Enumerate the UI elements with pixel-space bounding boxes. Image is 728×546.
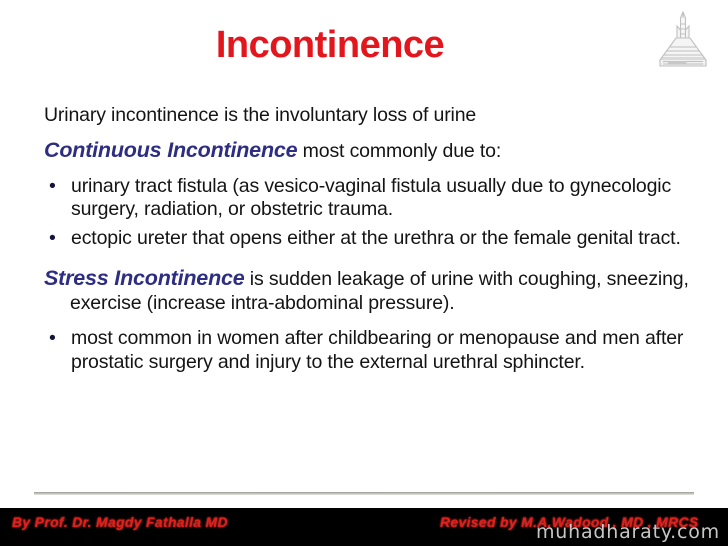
slide-root: ████████ Incontinence Urinary incontinen… bbox=[0, 0, 728, 546]
list-item-label: most common in women after childbearing … bbox=[71, 327, 683, 373]
institution-emblem-icon: ████████ bbox=[652, 8, 714, 74]
author-credit: By Prof. Dr. Magdy Fathalla MD bbox=[12, 514, 228, 530]
footer-bar: By Prof. Dr. Magdy Fathalla MD Revised b… bbox=[0, 508, 728, 546]
spacer bbox=[44, 256, 696, 265]
site-watermark: muhadharaty.com bbox=[536, 521, 720, 543]
slide-title: Incontinence bbox=[0, 26, 660, 66]
footer-divider bbox=[34, 492, 694, 495]
stress-incontinence-heading: Stress Incontinence bbox=[44, 266, 245, 290]
section-two-heading-line: Stress Incontinence is sudden leakage of… bbox=[44, 265, 696, 316]
section-one-heading-line: Continuous Incontinence most commonly du… bbox=[44, 137, 696, 164]
list-item: • most common in women after childbearin… bbox=[44, 327, 696, 375]
continuous-incontinence-tail: most commonly due to: bbox=[297, 140, 501, 162]
list-item: • ectopic ureter that opens either at th… bbox=[44, 227, 696, 251]
slide-body: Urinary incontinence is the involuntary … bbox=[44, 104, 696, 380]
intro-line: Urinary incontinence is the involuntary … bbox=[44, 104, 696, 128]
list-item: • urinary tract fistula (as vesico-vagin… bbox=[44, 175, 696, 223]
continuous-incontinence-heading: Continuous Incontinence bbox=[44, 138, 297, 162]
svg-text:████████: ████████ bbox=[667, 61, 687, 65]
bullet-dot-icon: • bbox=[49, 175, 56, 199]
list-item-label: ectopic ureter that opens either at the … bbox=[71, 227, 681, 249]
list-item-label: urinary tract fistula (as vesico-vaginal… bbox=[71, 175, 671, 221]
bullet-dot-icon: • bbox=[49, 227, 56, 251]
bullet-dot-icon: • bbox=[49, 327, 56, 351]
